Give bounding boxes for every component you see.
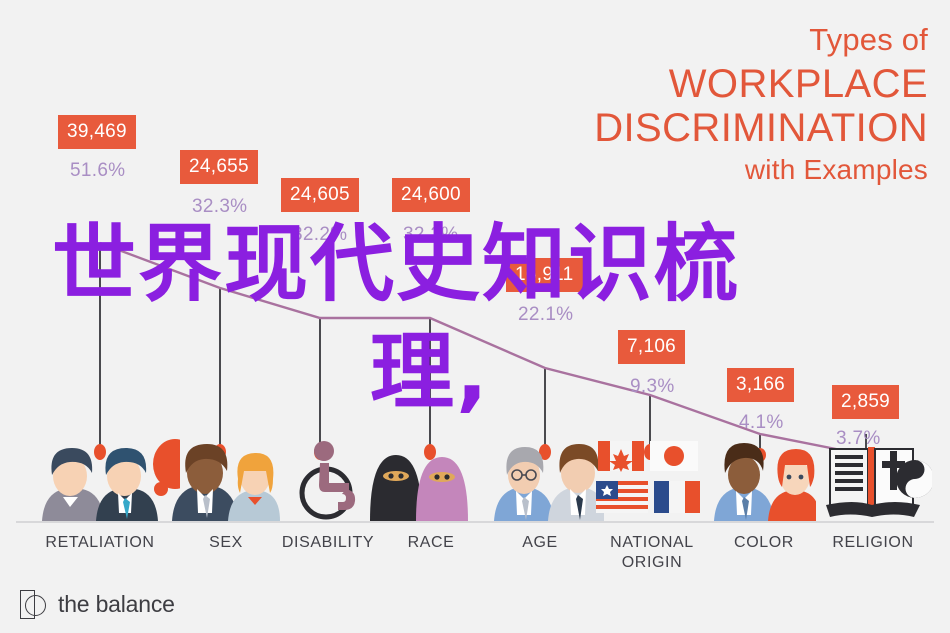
value-chip-national-origin: 7,106 [618, 330, 685, 364]
two-niqab-women-icon [364, 431, 474, 521]
category-label-age: AGE [498, 533, 582, 553]
category-label-race: RACE [388, 533, 474, 553]
percent-disability: 32.2% [292, 224, 347, 246]
flag-japan [650, 441, 698, 471]
title-line-4: with Examples [594, 155, 928, 184]
man-woman-pair-icon [168, 431, 280, 521]
value-chip-retaliation: 39,469 [58, 115, 136, 149]
percent-national-origin: 9.3% [630, 376, 675, 398]
percent-retaliation: 51.6% [70, 160, 125, 182]
category-label-disability: DISABILITY [258, 533, 398, 553]
four-flags-icon [592, 431, 708, 521]
page-title: Types of WORKPLACE DISCRIMINATION with E… [594, 24, 928, 184]
percent-sex: 32.3% [192, 196, 247, 218]
chart-baseline [16, 521, 934, 523]
title-line-2: WORKPLACE [594, 63, 928, 105]
icon-group-national-origin [592, 431, 708, 521]
category-axis: RETALIATION SEX DISABILITY RACE AGE NATI… [0, 533, 950, 593]
value-chip-religion: 2,859 [832, 385, 899, 419]
open-book-cross-yinyang-icon [822, 431, 932, 521]
percent-race: 32.2% [403, 224, 458, 246]
value-chip-color: 3,166 [727, 368, 794, 402]
wheelchair-icon [298, 431, 360, 521]
title-line-3: DISCRIMINATION [594, 107, 928, 149]
category-label-national-origin: NATIONAL ORIGIN [588, 533, 716, 573]
brand-logo: the balance [18, 589, 175, 619]
icon-group-religion [822, 431, 932, 521]
older-younger-person-icon [492, 431, 604, 521]
dark-light-skin-people-icon [712, 431, 816, 521]
icon-group-retaliation [30, 431, 180, 521]
balance-logo-icon [18, 589, 48, 619]
flag-usa [596, 481, 648, 513]
category-label-religion: RELIGION [812, 533, 934, 553]
percent-age: 22.1% [518, 304, 573, 326]
title-line-1: Types of [594, 24, 928, 57]
value-chip-sex: 24,655 [180, 150, 258, 184]
logo-circle-shape [25, 595, 46, 616]
value-chip-race: 24,600 [392, 178, 470, 212]
brand-name: the balance [58, 591, 175, 618]
icon-group-age [492, 431, 604, 521]
category-label-retaliation: RETALIATION [20, 533, 180, 553]
icon-group-sex [168, 431, 280, 521]
flag-france [654, 481, 700, 513]
icon-group-race [364, 431, 474, 521]
value-chip-age: 16,911 [506, 258, 583, 292]
value-chip-disability: 24,605 [281, 178, 359, 212]
two-people-speech-bubble-icon [30, 431, 180, 521]
flag-canada [598, 441, 644, 472]
icon-group-color [712, 431, 816, 521]
category-label-color: COLOR [716, 533, 812, 553]
infographic-canvas: Types of WORKPLACE DISCRIMINATION with E… [0, 0, 950, 633]
icon-group-disability [298, 431, 360, 521]
